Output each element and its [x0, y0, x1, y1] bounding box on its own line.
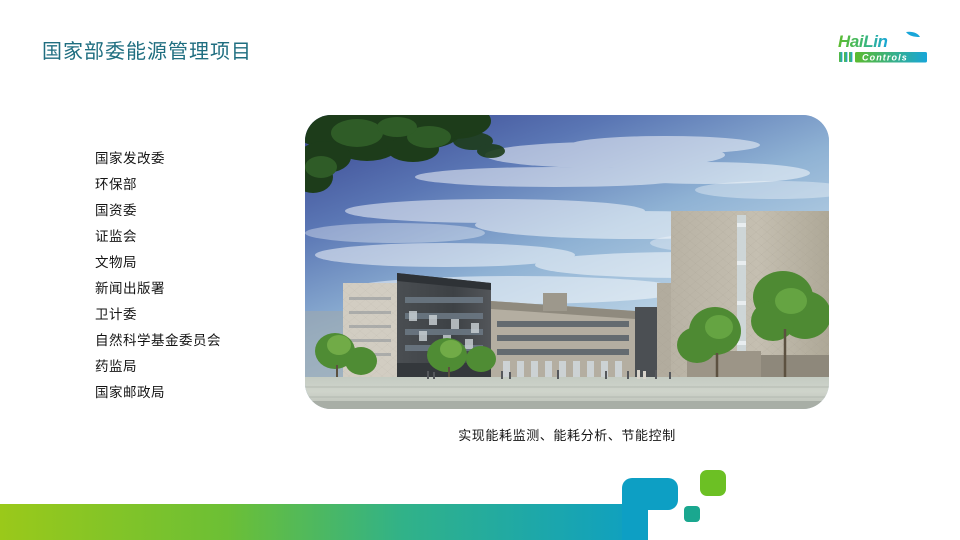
list-item: 卫计委 [95, 302, 295, 328]
hailin-controls-logo: HaiLin Controls [832, 28, 936, 68]
footer-decoration [0, 464, 960, 540]
list-item: 药监局 [95, 354, 295, 380]
building-rendering-photo [305, 115, 829, 409]
list-item: 环保部 [95, 172, 295, 198]
list-item: 国家发改委 [95, 146, 295, 172]
list-item: 新闻出版署 [95, 276, 295, 302]
list-item: 证监会 [95, 224, 295, 250]
list-item: 国家邮政局 [95, 380, 295, 406]
page-title: 国家部委能源管理项目 [42, 38, 252, 66]
list-item: 自然科学基金委员会 [95, 328, 295, 354]
photo-caption: 实现能耗监测、能耗分析、节能控制 [305, 425, 829, 444]
svg-text:Controls: Controls [862, 52, 908, 62]
slide-root: 国家部委能源管理项目 HaiLin [0, 0, 960, 540]
list-item: 文物局 [95, 250, 295, 276]
agency-list: 国家发改委 环保部 国资委 证监会 文物局 新闻出版署 卫计委 自然科学基金委员… [95, 146, 295, 406]
svg-text:HaiLin: HaiLin [838, 32, 888, 51]
list-item: 国资委 [95, 198, 295, 224]
